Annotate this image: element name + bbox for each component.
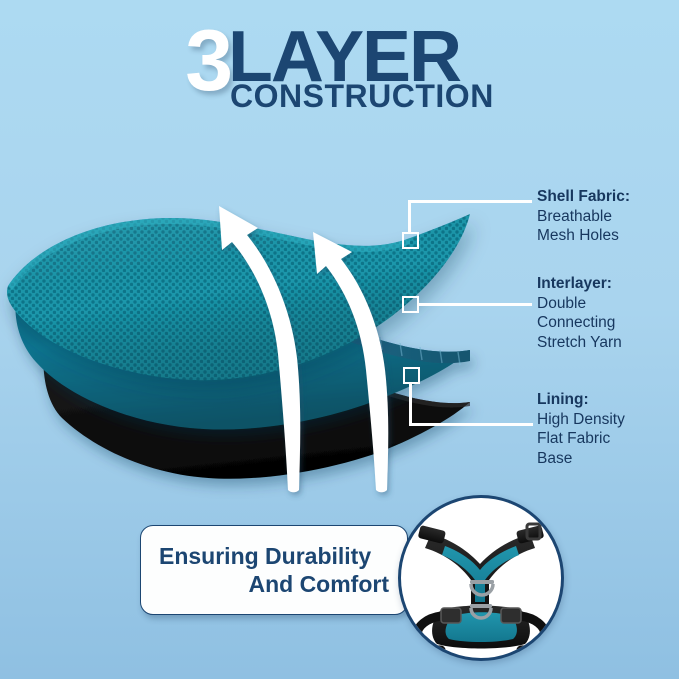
callout-connector-shell-horizontal xyxy=(408,200,532,203)
title-subtitle: CONSTRUCTION xyxy=(230,83,494,109)
callout-text-interlayer: Interlayer: Double Connecting Stretch Ya… xyxy=(537,274,622,352)
tagline-line-1: Ensuring Durability xyxy=(159,542,389,570)
callout-marker-interlayer xyxy=(402,296,419,313)
title-number: 3 xyxy=(185,26,230,97)
callout-line-interlayer-3: Stretch Yarn xyxy=(537,333,622,353)
callout-line-lining-1: High Density xyxy=(537,410,625,430)
infographic-canvas: 3 LAYER CONSTRUCTION xyxy=(0,0,679,679)
callout-connector-shell-vertical xyxy=(408,200,411,234)
callout-connector-lining-horizontal xyxy=(409,423,533,426)
callout-line-lining-3: Base xyxy=(537,449,625,469)
callout-marker-shell xyxy=(402,232,419,249)
tagline-line-2: And Comfort xyxy=(159,570,389,598)
dog-harness-illustration xyxy=(401,498,561,658)
title-word: LAYER xyxy=(228,28,499,87)
callout-marker-lining xyxy=(403,367,420,384)
callout-title-lining: Lining: xyxy=(537,390,625,410)
callout-line-lining-2: Flat Fabric xyxy=(537,429,625,449)
callout-title-interlayer: Interlayer: xyxy=(537,274,622,294)
callout-title-shell: Shell Fabric: xyxy=(537,187,630,207)
tagline-banner: Ensuring Durability And Comfort xyxy=(140,525,408,615)
title-row: 3 LAYER CONSTRUCTION xyxy=(0,28,679,109)
callout-line-shell-1: Breathable xyxy=(537,207,630,227)
callout-line-interlayer-1: Double xyxy=(537,294,622,314)
callout-line-shell-2: Mesh Holes xyxy=(537,226,630,246)
product-badge xyxy=(398,495,564,661)
callout-line-interlayer-2: Connecting xyxy=(537,313,622,333)
callout-connector-interlayer-horizontal xyxy=(419,303,532,306)
page-title: 3 LAYER CONSTRUCTION xyxy=(0,28,679,109)
callout-connector-lining-vertical xyxy=(409,384,412,425)
callout-text-lining: Lining: High Density Flat Fabric Base xyxy=(537,390,625,468)
callout-text-shell: Shell Fabric: Breathable Mesh Holes xyxy=(537,187,630,246)
title-text-group: LAYER CONSTRUCTION xyxy=(228,28,494,109)
